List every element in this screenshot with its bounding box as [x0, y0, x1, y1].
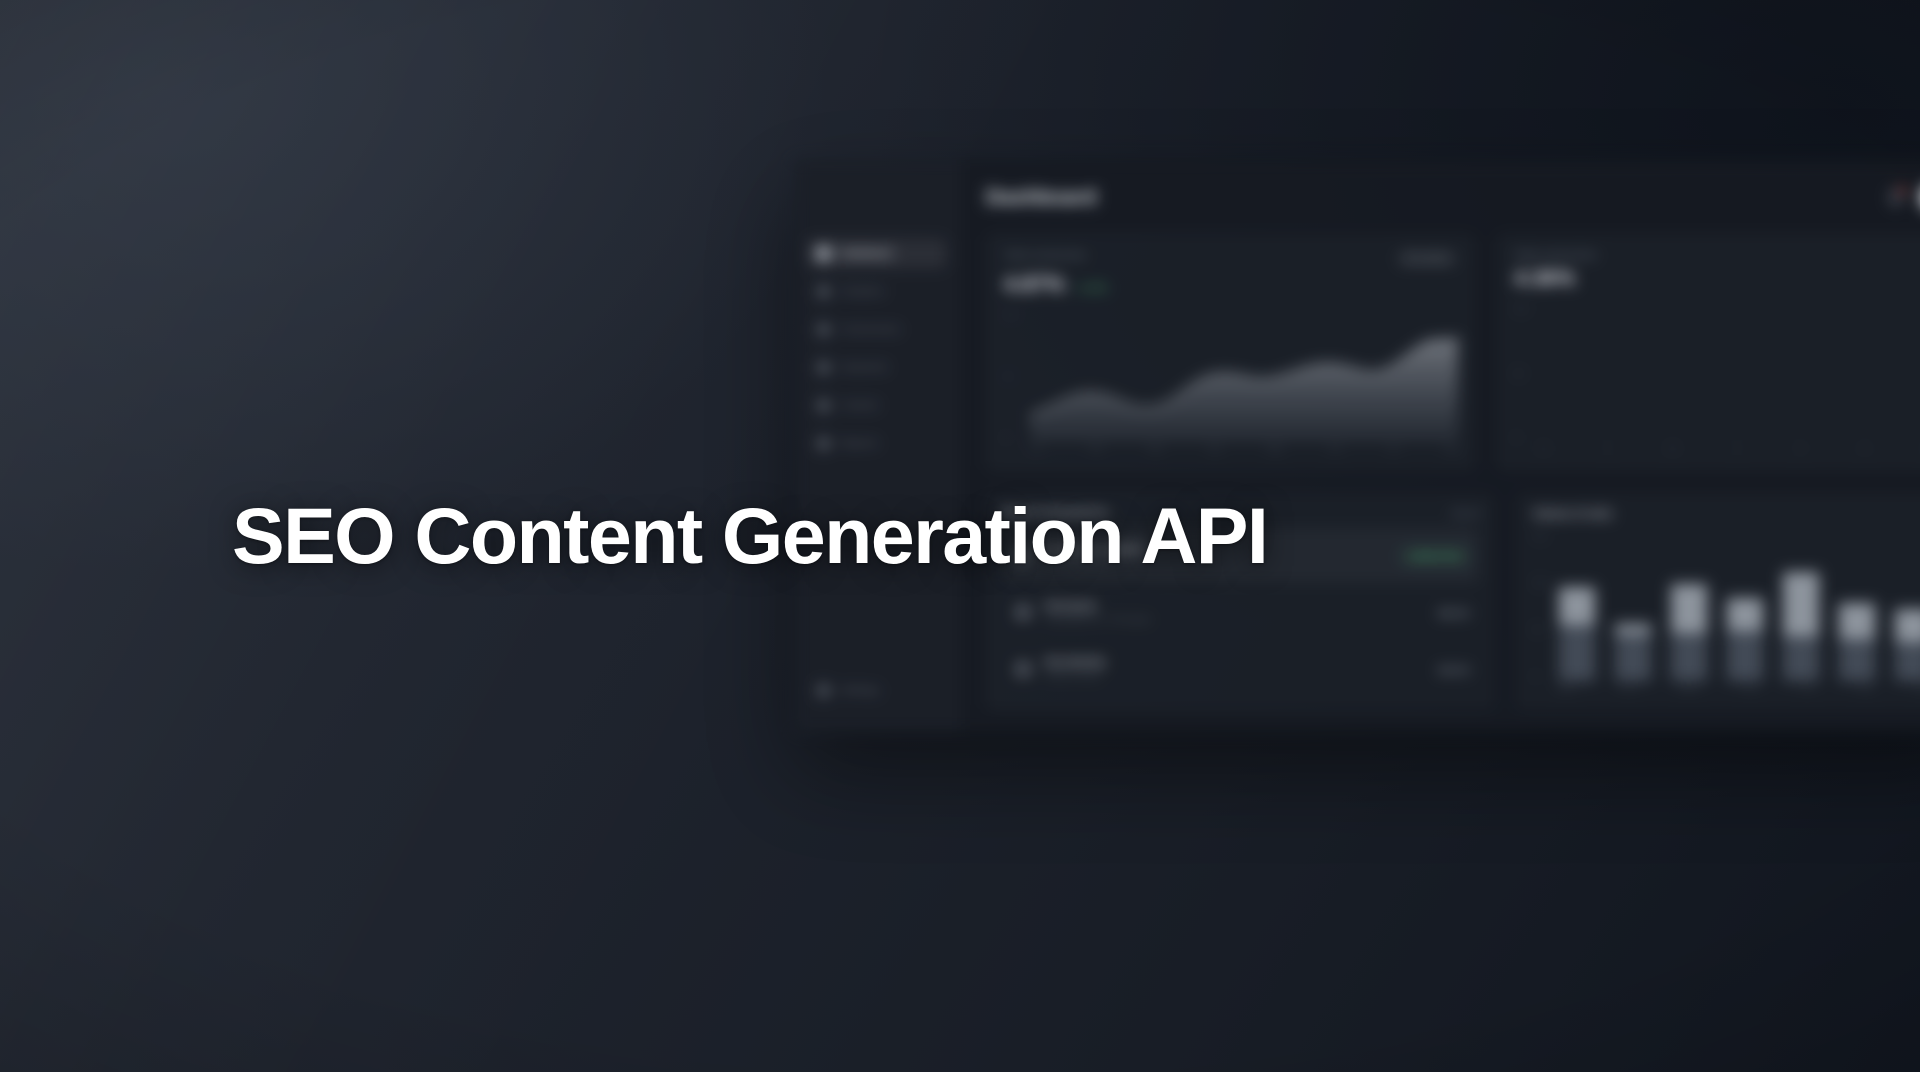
hero-title: SEO Content Generation API: [0, 495, 1267, 578]
hero-overlay: SEO Content Generation API: [0, 0, 1920, 1072]
